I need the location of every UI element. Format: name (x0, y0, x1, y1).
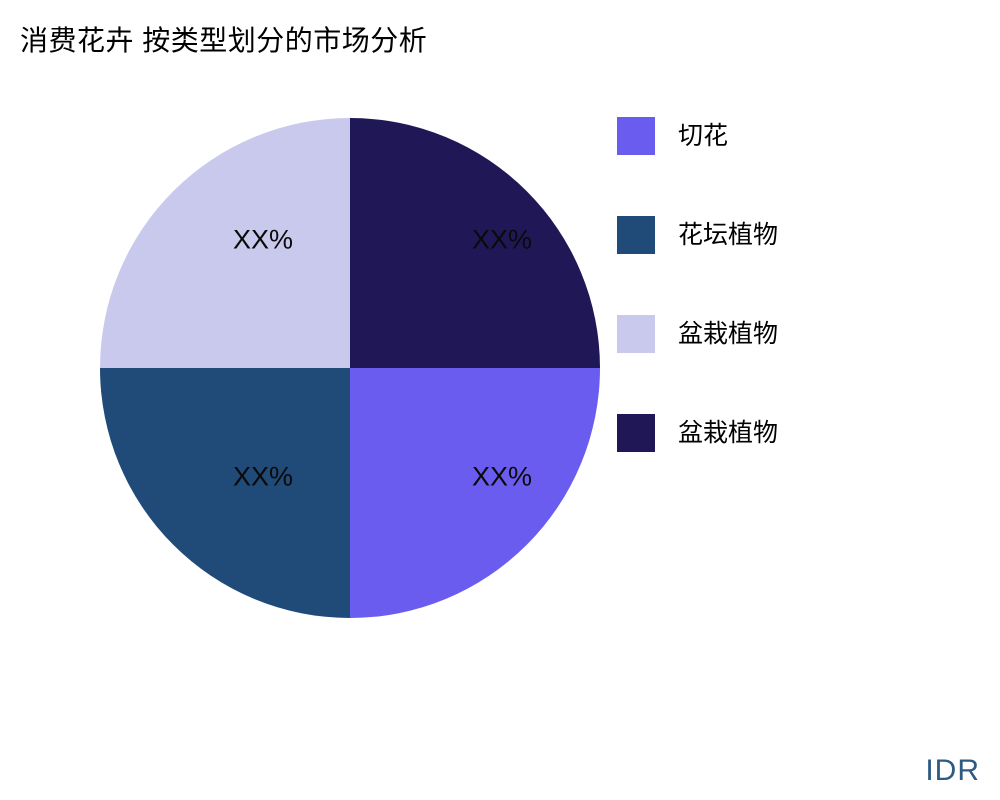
pie-slice-bottom-right[interactable] (350, 368, 600, 618)
legend-item-4[interactable]: 盆栽植物 (617, 414, 957, 513)
legend-swatch-icon-4 (617, 414, 655, 452)
pie-slice-top-right[interactable] (350, 118, 600, 368)
pie-slice-bottom-left[interactable] (100, 368, 350, 618)
legend-item-1[interactable]: 切花 (617, 117, 957, 216)
legend-label-2: 花坛植物 (678, 216, 778, 254)
pie-chart-svg (100, 118, 600, 618)
pie-chart: XX% XX% XX% XX% (100, 118, 600, 618)
legend-item-3[interactable]: 盆栽植物 (617, 315, 957, 414)
chart-canvas: 消费花卉 按类型划分的市场分析 XX% XX% XX% XX% 切花 花坛植物 … (0, 0, 1000, 800)
legend-label-3: 盆栽植物 (678, 315, 778, 353)
pie-slice-top-left[interactable] (100, 118, 350, 368)
chart-legend: 切花 花坛植物 盆栽植物 盆栽植物 (617, 117, 957, 513)
page-title: 消费花卉 按类型划分的市场分析 (20, 24, 427, 58)
legend-item-2[interactable]: 花坛植物 (617, 216, 957, 315)
legend-label-4: 盆栽植物 (678, 414, 778, 452)
legend-swatch-icon-1 (617, 117, 655, 155)
watermark-label: IDR (925, 754, 980, 788)
legend-label-1: 切花 (678, 117, 728, 155)
legend-swatch-icon-2 (617, 216, 655, 254)
legend-swatch-icon-3 (617, 315, 655, 353)
